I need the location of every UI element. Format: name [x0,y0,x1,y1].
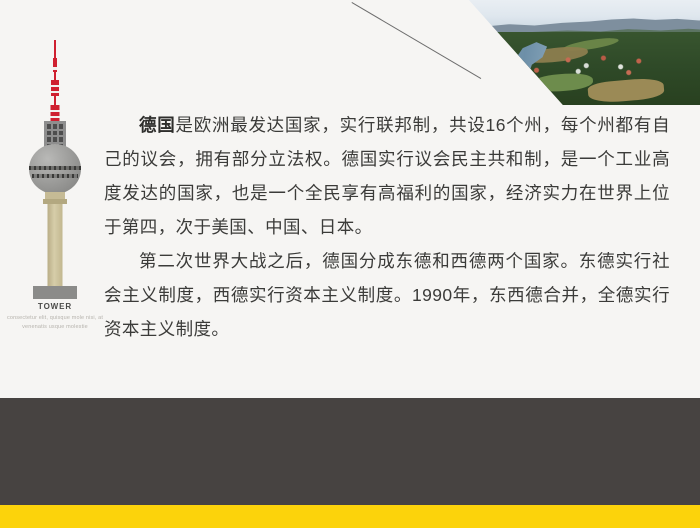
slide-canvas: TOWER consectetur elit, quisque mole nis… [0,0,700,528]
antenna-stripe [51,85,59,87]
antenna-segment [51,105,60,121]
tower-base [33,286,77,299]
tower-illustration [22,40,88,300]
photo-village [558,53,660,76]
antenna-tip [54,40,56,58]
antenna-stripe [51,110,60,112]
antenna-mast [54,96,56,105]
paragraph-1-rest: 是欧洲最发达国家，实行联邦制，共设16个州，每个州都有自己的议会，拥有部分立法权… [104,115,670,237]
tower-shaft [48,204,63,286]
antenna-stripe [51,91,59,93]
footer-dark-bar [0,398,700,505]
tower-collar [45,192,65,199]
tower-caption-title: TOWER [0,302,110,311]
antenna-stripe [53,67,57,70]
footer-accent-bar [0,505,700,528]
antenna-mast [54,72,56,80]
tower-caption-text: consectetur elit, quisque mole nisi, at … [0,314,110,332]
antenna-stripe [51,116,60,118]
sphere-windows [29,166,81,170]
paragraph-1: 德国是欧洲最发达国家，实行联邦制，共设16个州，每个州都有自己的议会，拥有部分立… [104,108,670,244]
antenna-segment [51,80,59,96]
tower-caption: TOWER consectetur elit, quisque mole nis… [0,302,110,332]
paragraph-2: 第二次世界大战之后，德国分成东德和西德两个国家。东德实行社会主义制度，西德实行资… [104,244,670,346]
emphasis-germany: 德国 [139,115,175,135]
article-body: 德国是欧洲最发达国家，实行联邦制，共设16个州，每个州都有自己的议会，拥有部分立… [104,108,670,346]
sphere-windows [32,174,78,178]
